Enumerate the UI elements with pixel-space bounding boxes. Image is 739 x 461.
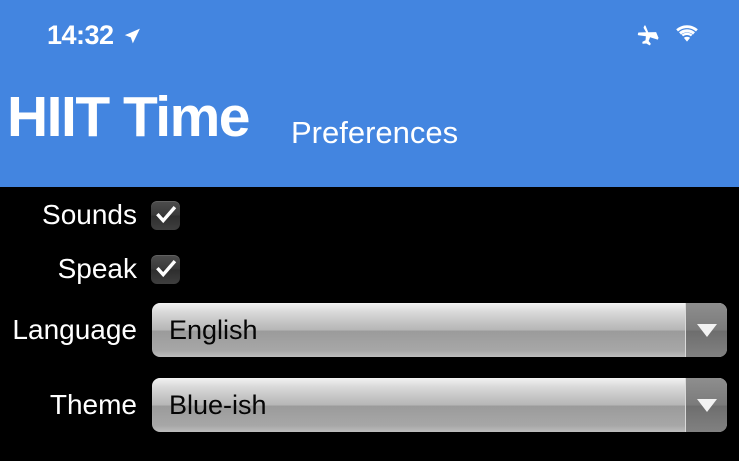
label-sounds: Sounds (0, 199, 137, 231)
preference-row-sounds: Sounds (0, 195, 739, 235)
theme-dropdown-value: Blue-ish (169, 378, 267, 432)
app-title: HIIT Time (7, 84, 249, 150)
status-bar-left: 14:32 (47, 20, 142, 50)
language-dropdown-toggle[interactable] (685, 303, 727, 357)
language-dropdown[interactable]: English (152, 303, 727, 357)
preference-row-speak: Speak (0, 249, 739, 289)
sounds-checkbox[interactable] (151, 201, 180, 230)
location-arrow-icon (122, 26, 142, 46)
check-icon (154, 203, 178, 227)
chevron-down-icon (697, 399, 717, 412)
app-header: 14:32 HIIT (0, 0, 739, 187)
label-theme: Theme (0, 389, 137, 421)
check-icon (154, 257, 178, 281)
preference-row-theme: Theme Blue-ish (0, 378, 739, 432)
theme-dropdown-toggle[interactable] (685, 378, 727, 432)
label-language: Language (0, 314, 137, 346)
status-clock: 14:32 (47, 20, 114, 50)
label-speak: Speak (0, 253, 137, 285)
airplane-mode-icon (635, 22, 659, 46)
preference-row-language: Language English (0, 303, 739, 357)
wifi-icon (675, 22, 699, 46)
status-bar-right (635, 22, 699, 46)
theme-dropdown[interactable]: Blue-ish (152, 378, 727, 432)
speak-checkbox[interactable] (151, 255, 180, 284)
page-title: Preferences (291, 115, 458, 151)
status-bar: 14:32 (0, 0, 739, 62)
header-title-area: HIIT Time Preferences (0, 77, 739, 187)
preferences-form: Sounds Speak Language English Theme Blue… (0, 187, 739, 461)
chevron-down-icon (697, 324, 717, 337)
language-dropdown-value: English (169, 303, 258, 357)
